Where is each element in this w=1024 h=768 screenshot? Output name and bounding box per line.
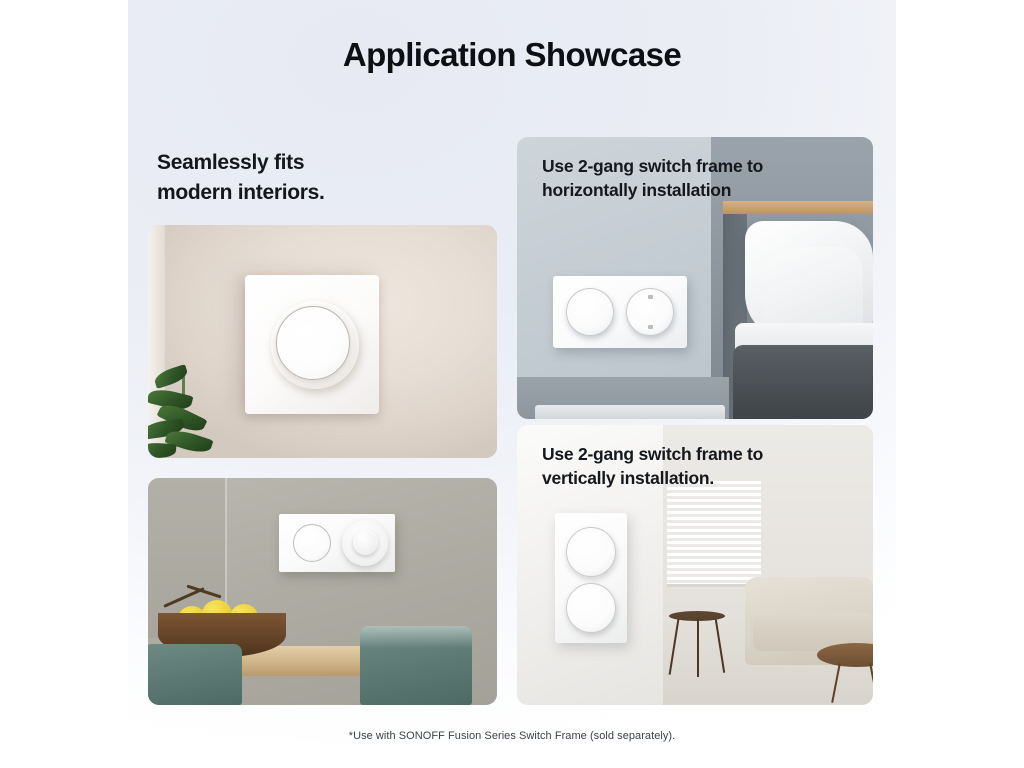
knob-marking-bottom	[648, 325, 653, 329]
content-panel: Application Showcase Seamlessly fits mod…	[128, 0, 896, 768]
window-blind	[667, 481, 761, 587]
rotary-knob-right	[626, 288, 674, 336]
rotary-knob	[276, 306, 350, 380]
photo-hero-scene	[148, 225, 497, 458]
wood-shelf	[723, 201, 873, 214]
dining-chair-right-highlight	[360, 626, 472, 648]
nightstand	[535, 405, 725, 419]
switch-plate-vertical-2gang	[555, 513, 627, 643]
knob-marking-top	[648, 295, 653, 299]
living-room-caption: Use 2-gang switch frame to vertically in…	[542, 442, 763, 490]
side-table-leg	[697, 619, 699, 677]
rotary-knob-dome	[353, 530, 378, 555]
left-column-caption: Seamlessly fits modern interiors.	[157, 148, 325, 208]
houseplant	[148, 363, 234, 458]
photo-bedroom-horizontal-frame: Use 2-gang switch frame to horizontally …	[517, 137, 873, 419]
application-showcase-page: Application Showcase Seamlessly fits mod…	[0, 0, 1024, 768]
photo-living-room-vertical-frame: Use 2-gang switch frame to vertically in…	[517, 425, 873, 705]
bedroom-caption: Use 2-gang switch frame to horizontally …	[542, 154, 763, 202]
bed-duvet	[733, 345, 873, 419]
dining-chair-left	[148, 644, 242, 705]
photo-dining-room-panel	[148, 478, 497, 705]
rotary-knob-left	[566, 288, 614, 336]
photo-dining-scene	[148, 478, 497, 705]
footnote-disclaimer: *Use with SONOFF Fusion Series Switch Fr…	[128, 730, 896, 742]
switch-plate-horizontal-2gang	[553, 276, 687, 348]
photo-hero-single-switch	[148, 225, 497, 458]
switch-plate-single	[245, 275, 379, 414]
rotary-knob-bottom	[566, 583, 616, 633]
rotary-knob-top	[566, 527, 616, 577]
page-title: Application Showcase	[128, 36, 896, 74]
rotary-knob-flat	[293, 524, 331, 562]
plant-leaf	[148, 442, 176, 458]
